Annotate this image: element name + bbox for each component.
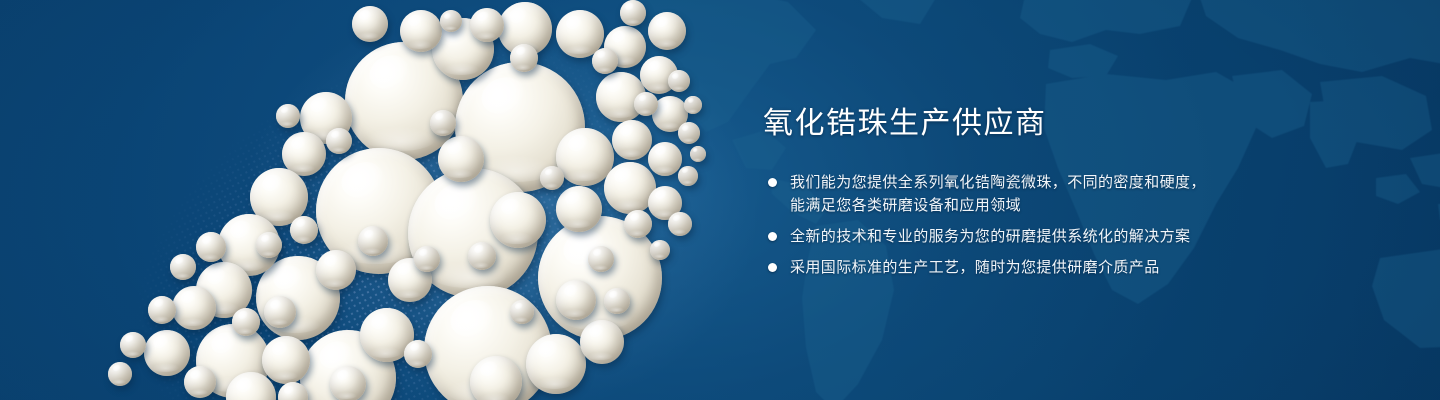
bullet-dot-icon [768,263,777,272]
feature-text-line: 我们能为您提供全系列氧化锆陶瓷微珠，不同的密度和硬度， [790,171,1323,194]
hero-banner: 氧化锆珠生产供应商 我们能为您提供全系列氧化锆陶瓷微珠，不同的密度和硬度， 能满… [0,0,1440,400]
page-title: 氧化锆珠生产供应商 [763,104,1323,144]
feature-list: 我们能为您提供全系列氧化锆陶瓷微珠，不同的密度和硬度， 能满足您各类研磨设备和应… [763,171,1323,279]
feature-text-line: 采用国际标准的生产工艺，随时为您提供研磨介质产品 [790,256,1323,279]
bullet-dot-icon [768,232,777,241]
list-item: 我们能为您提供全系列氧化锆陶瓷微珠，不同的密度和硬度， 能满足您各类研磨设备和应… [763,171,1323,217]
list-item: 采用国际标准的生产工艺，随时为您提供研磨介质产品 [763,256,1323,279]
feature-text-line: 全新的技术和专业的服务为您的研磨提供系统化的解决方案 [790,225,1323,248]
banner-copy: 氧化锆珠生产供应商 我们能为您提供全系列氧化锆陶瓷微珠，不同的密度和硬度， 能满… [763,104,1323,279]
bullet-dot-icon [768,178,777,187]
feature-text-line: 能满足您各类研磨设备和应用领域 [790,194,1323,217]
list-item: 全新的技术和专业的服务为您的研磨提供系统化的解决方案 [763,225,1323,248]
